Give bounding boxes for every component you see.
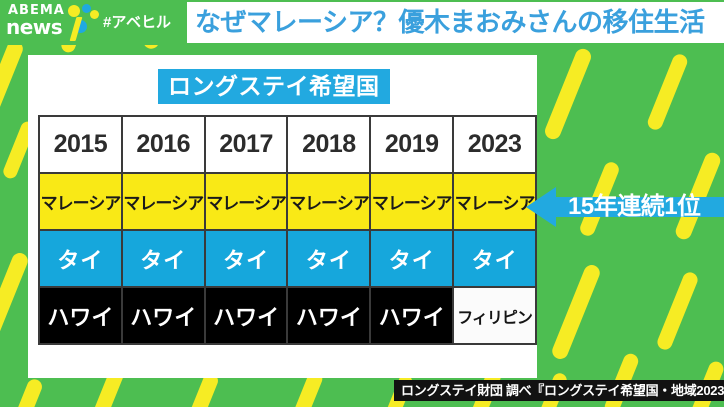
rank-cell: マレーシア	[287, 173, 370, 230]
rank-cell: ハワイ	[205, 287, 288, 344]
year-cell: 2019	[370, 116, 453, 173]
source-credit: ロングステイ財団 調べ『ロングステイ希望国・地域2023』	[394, 380, 724, 401]
rank-cell: タイ	[453, 230, 536, 287]
year-cell: 2015	[39, 116, 122, 173]
logo-dot-yellow-1	[68, 5, 80, 17]
card-title-banner: ロングステイ希望国	[158, 69, 390, 104]
rank-cell: マレーシア	[205, 173, 288, 230]
rank-cell: マレーシア	[370, 173, 453, 230]
source-credit-text: ロングステイ財団 調べ『ロングステイ希望国・地域2023』	[401, 380, 724, 401]
headline-bar: なぜマレーシア？優木まおみさんの移住生活	[187, 2, 724, 43]
rank-cell: マレーシア	[122, 173, 205, 230]
content-card: ロングステイ希望国 201520162017201820192023マレーシアマ…	[28, 55, 537, 378]
logo-dot-yellow-2	[90, 10, 99, 19]
year-cell: 2018	[287, 116, 370, 173]
ranking-table: 201520162017201820192023マレーシアマレーシアマレーシアマ…	[38, 115, 537, 345]
program-hashtag: #アベヒル	[103, 11, 171, 32]
broadcast-screen: ロングステイ希望国 201520162017201820192023マレーシアマ…	[0, 0, 724, 407]
rank-cell: ハワイ	[122, 287, 205, 344]
rank-cell: マレーシア	[39, 173, 122, 230]
rank-cell: ハワイ	[370, 287, 453, 344]
rank-cell: タイ	[39, 230, 122, 287]
year-cell: 2017	[205, 116, 288, 173]
rank-cell: マレーシア	[453, 173, 536, 230]
logo-news-text: news	[6, 16, 62, 38]
table-row-rank-2: タイタイタイタイタイタイ	[39, 230, 536, 287]
rank-cell: フィリピン	[453, 287, 536, 344]
callout-label: 15年連続1位	[568, 192, 701, 221]
rank-cell: タイ	[122, 230, 205, 287]
card-title-label: ロングステイ希望国	[168, 73, 380, 99]
rank-cell: ハワイ	[287, 287, 370, 344]
header-bar: ABEMA news #アベヒル なぜマレーシア？優木まおみさんの移住生活	[0, 0, 724, 45]
rank-cell: ハワイ	[39, 287, 122, 344]
year-cell: 2023	[453, 116, 536, 173]
table-row-rank-1: マレーシアマレーシアマレーシアマレーシアマレーシアマレーシア	[39, 173, 536, 230]
rank-cell: タイ	[287, 230, 370, 287]
table-row-rank-3: ハワイハワイハワイハワイハワイフィリピン	[39, 287, 536, 344]
abema-news-logo[interactable]: ABEMA news	[6, 3, 98, 41]
headline-text: なぜマレーシア？優木まおみさんの移住生活	[195, 6, 704, 39]
callout-arrow: 15年連続1位	[526, 183, 724, 231]
year-cell: 2016	[122, 116, 205, 173]
table-row-years: 201520162017201820192023	[39, 116, 536, 173]
rank-cell: タイ	[370, 230, 453, 287]
rank-cell: タイ	[205, 230, 288, 287]
